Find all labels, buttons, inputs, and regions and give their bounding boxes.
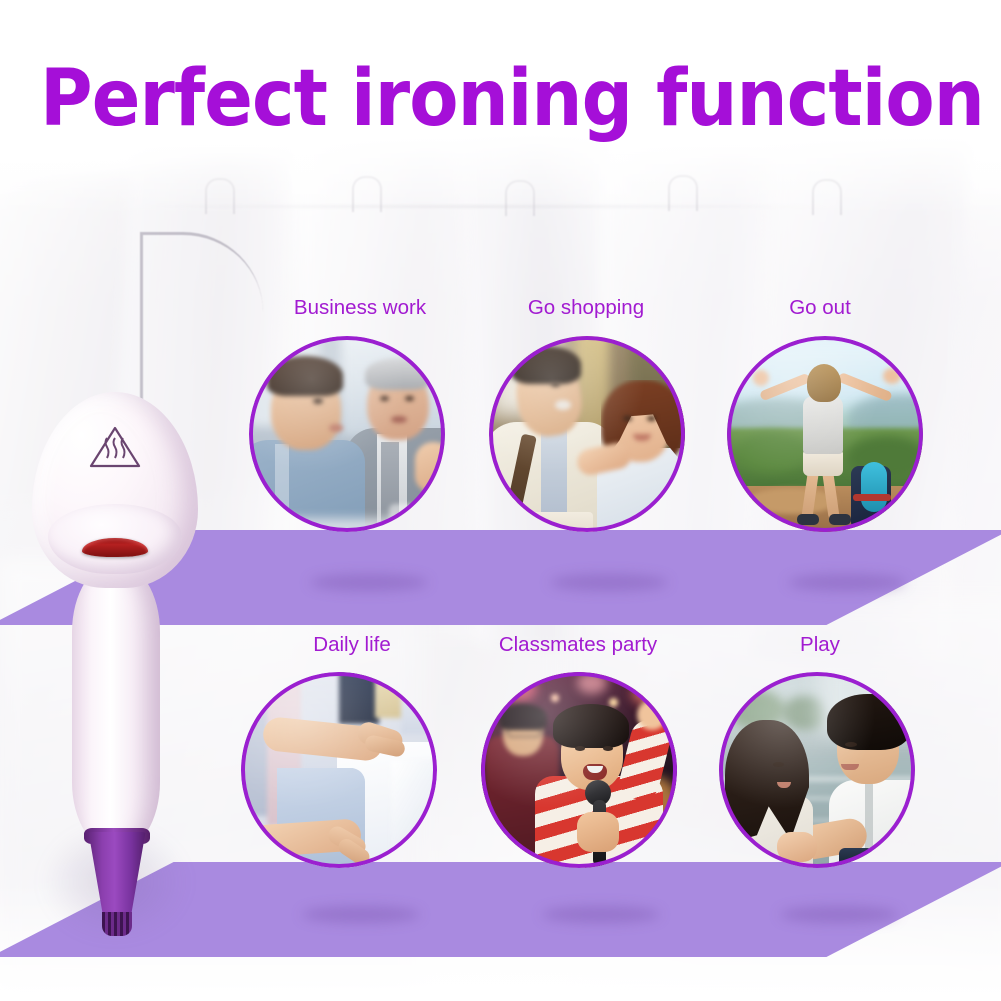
bubble-drop-shadow [788,574,906,591]
scenario-label-classmates-party: Classmates party [478,633,678,657]
couple-shopping-photo [489,336,685,532]
scenario-label-go-shopping: Go shopping [486,296,686,320]
scenario-label-go-out: Go out [720,296,920,320]
product-handle [72,562,160,852]
bubble-drop-shadow [550,574,668,591]
scenario-bubble-go-out[interactable] [727,336,923,532]
product-marketing-poster: Perfect ironing function Business work G… [0,0,1001,1001]
scenario-label-daily-life: Daily life [252,633,452,657]
scenario-bubble-daily-life[interactable] [241,672,437,868]
bubble-drop-shadow [780,906,898,923]
power-indicator-light [82,538,148,557]
scenario-label-play: Play [720,633,920,657]
bubble-drop-shadow [310,574,428,591]
scenario-label-business-work: Business work [260,296,460,320]
scenario-bubble-classmates-party[interactable] [481,672,677,868]
bubble-drop-shadow [302,906,420,923]
shirts-on-rack-photo [241,672,437,868]
business-meeting-photo [249,336,445,532]
scenario-bubble-go-shopping[interactable] [489,336,685,532]
scenario-bubble-business-work[interactable] [249,336,445,532]
page-title: Perfect ironing function [40,58,961,140]
hot-surface-warning-icon [88,424,142,470]
hiker-mountain-photo [727,336,923,532]
bubble-drop-shadow [542,906,660,923]
karaoke-singer-photo [481,672,677,868]
scenario-bubble-play[interactable] [719,672,915,868]
couple-riverside-photo [719,672,915,868]
product-garment-steamer [22,392,212,962]
product-nozzle [102,912,132,936]
